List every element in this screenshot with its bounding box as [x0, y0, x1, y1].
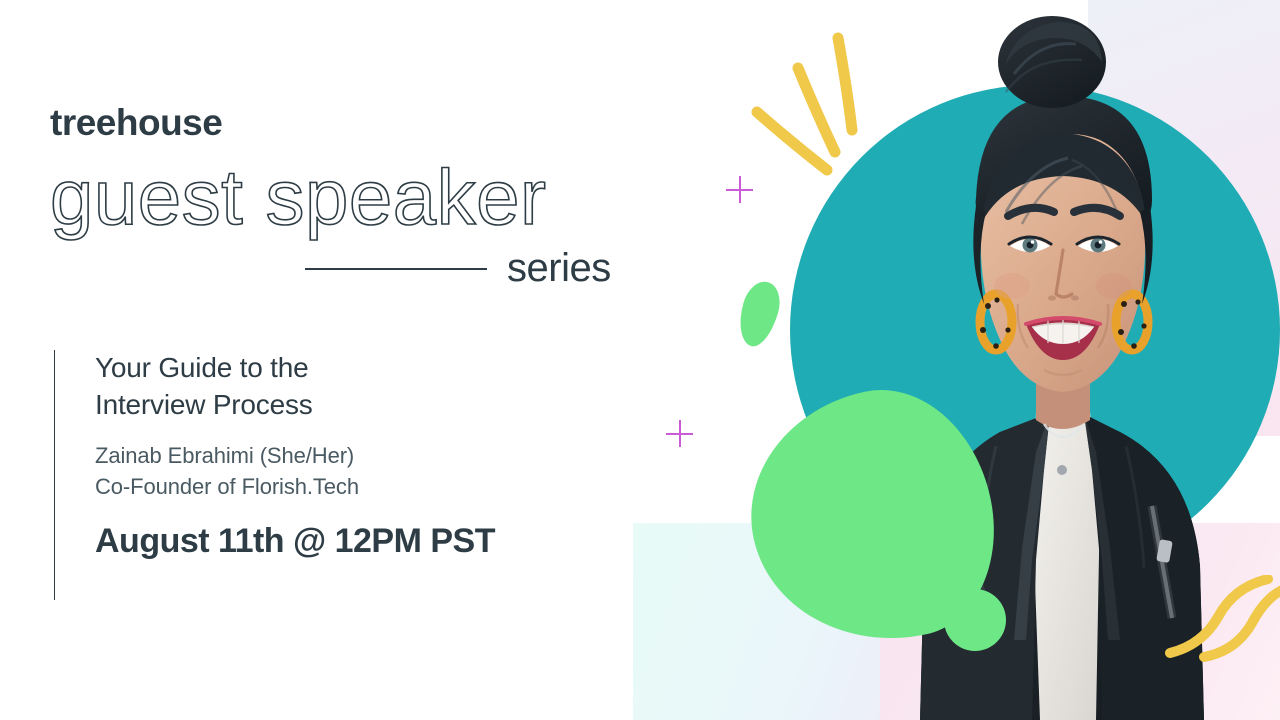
brand-lockup: treehouse guest speaker series — [50, 104, 650, 291]
session-details-block: Your Guide to the Interview Process Zain… — [54, 350, 495, 600]
event-datetime: August 11th @ 12PM PST — [95, 522, 495, 561]
series-divider-rule — [305, 268, 487, 270]
magenta-plus-lower-icon — [666, 420, 693, 447]
yellow-sparkle-strokes-icon — [735, 30, 905, 210]
guest-speaker-promo-slide: treehouse guest speaker series Your Guid… — [0, 0, 1280, 720]
series-label: series — [507, 246, 611, 291]
green-circle-shape — [944, 589, 1006, 651]
session-title-line-2: Interview Process — [95, 389, 313, 420]
speaker-role: Co-Founder of Florish.Tech — [95, 471, 495, 502]
treehouse-wordmark: treehouse — [50, 104, 650, 141]
plus-vertical-bar — [739, 176, 741, 203]
session-title: Your Guide to the Interview Process — [95, 350, 495, 424]
speaker-name: Zainab Ebrahimi (She/Her) — [95, 440, 495, 471]
magenta-plus-upper-icon — [726, 176, 753, 203]
series-row: series — [50, 246, 650, 291]
session-title-line-1: Your Guide to the — [95, 352, 309, 383]
guest-speaker-headline: guest speaker — [50, 157, 650, 238]
green-blob-small-shape — [733, 277, 786, 350]
yellow-squiggle-lines-icon — [1160, 575, 1280, 720]
plus-vertical-bar — [679, 420, 681, 447]
